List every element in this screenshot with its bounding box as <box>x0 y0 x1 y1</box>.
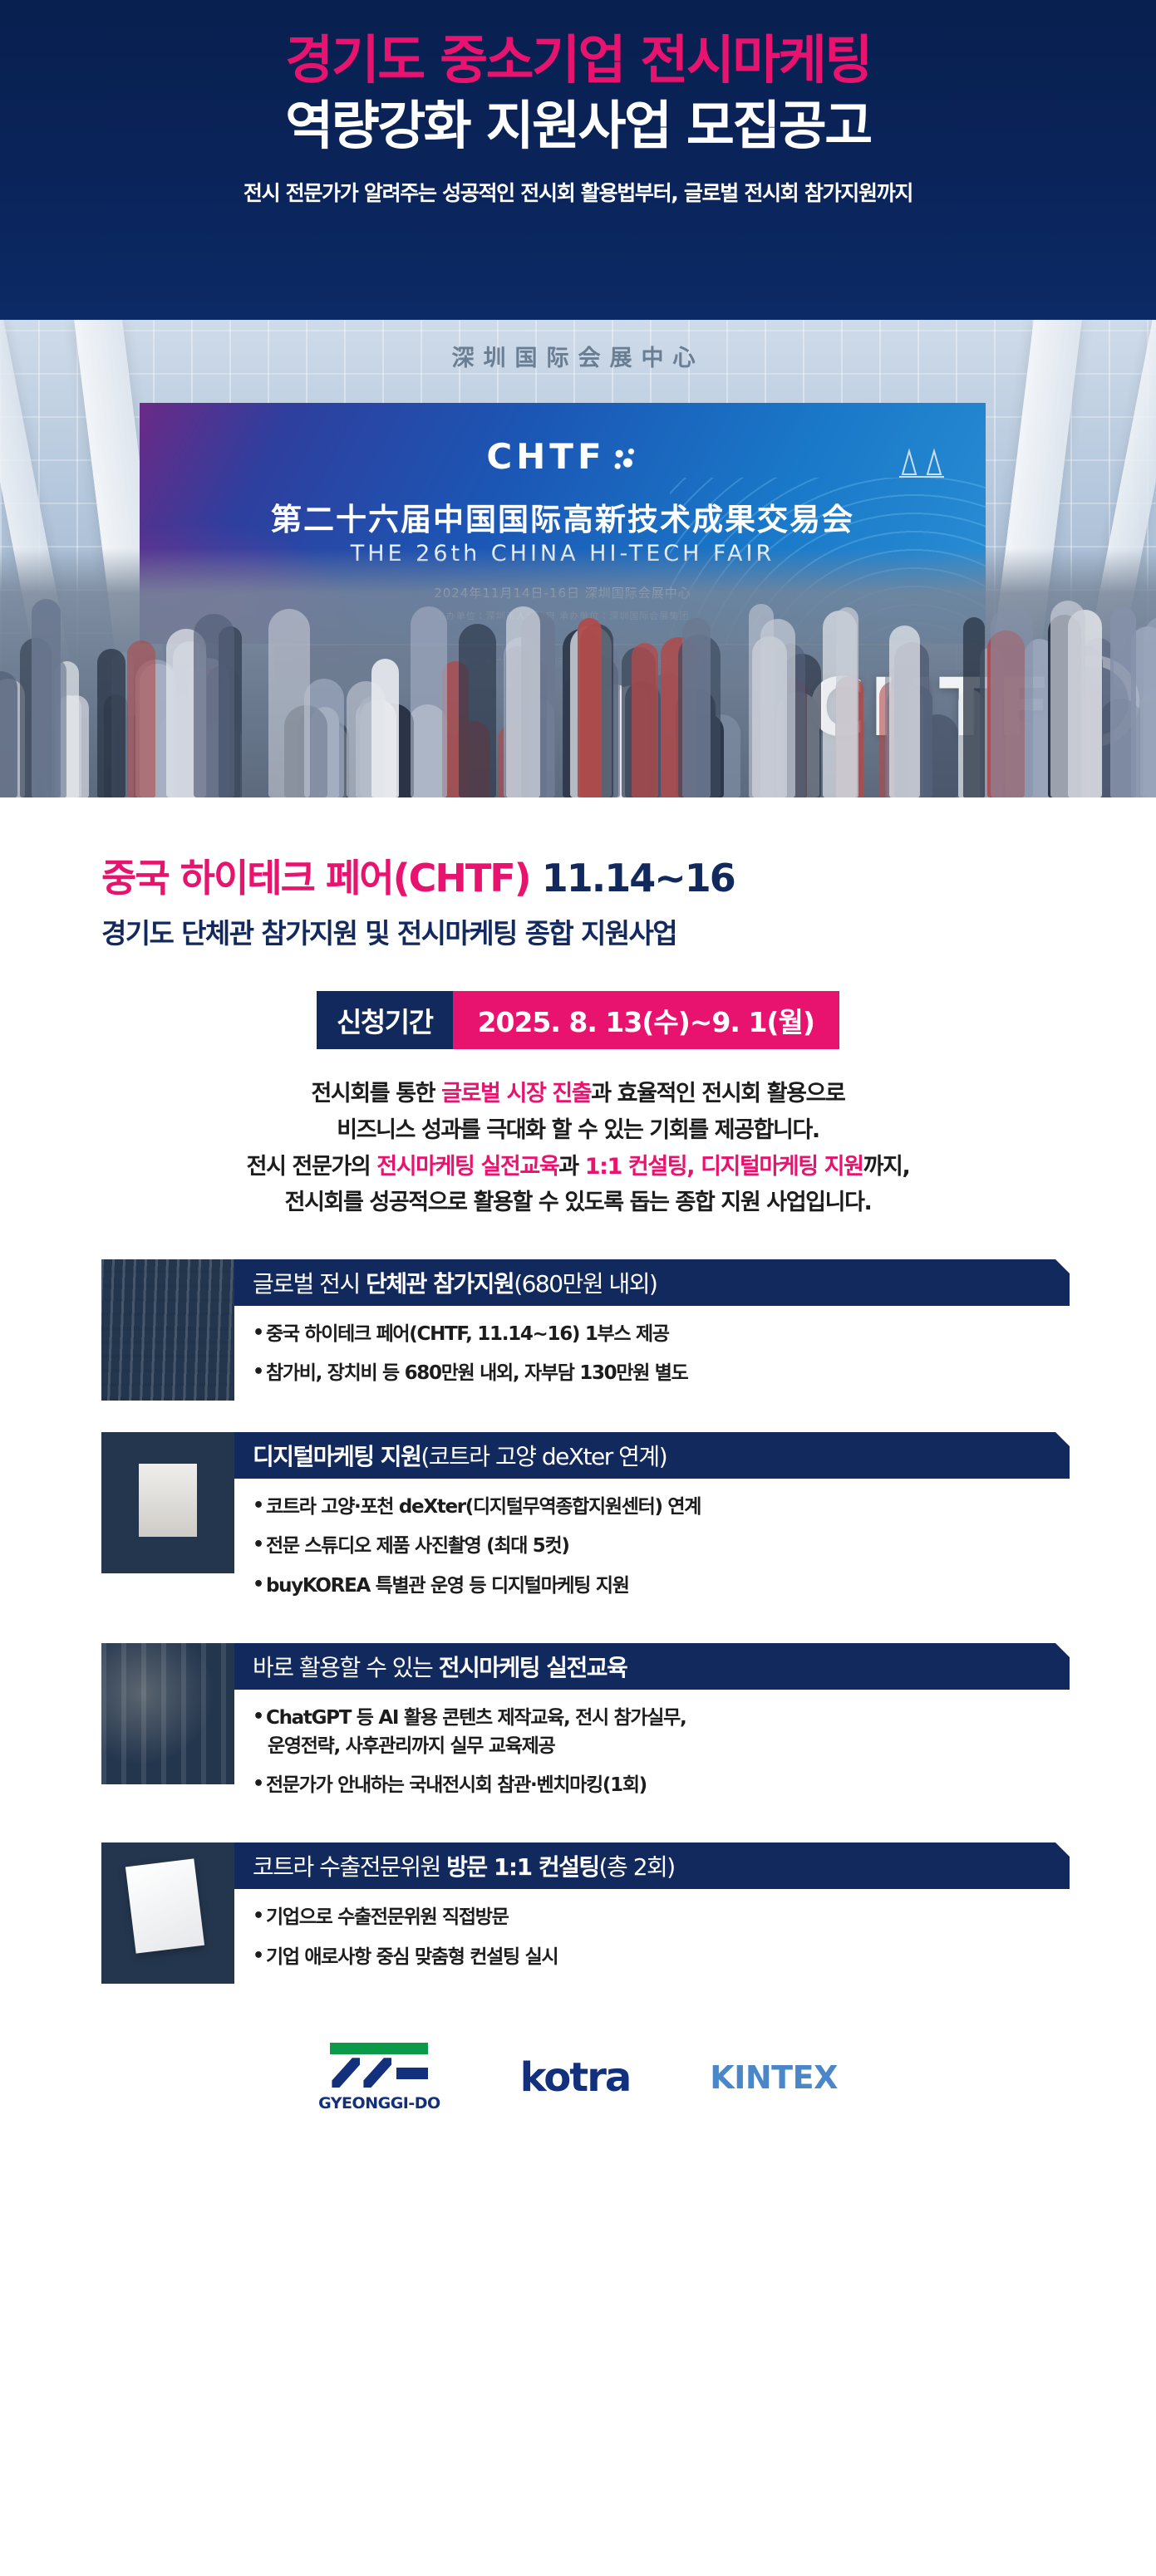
card-3-bullet-2: 전문가가 안내하는 국내전시회 참관·벤치마킹(1회) <box>253 1772 1070 1799</box>
card-3-bullet-1-continuation: 운영전략, 사후관리까지 실무 교육제공 <box>266 1733 1070 1760</box>
card-group-participation: 글로벌 전시 단체관 참가지원(680만원 내외) 중국 하이테크 페어(CHT… <box>0 1259 1156 1401</box>
card-1-thumbnail <box>101 1259 234 1401</box>
card-4-title: 코트라 수출전문위원 방문 1:1 컨설팅(총 2회) <box>253 1849 675 1882</box>
chtf-dots-icon <box>611 445 639 473</box>
card-3-bullets: ChatGPT 등 AI 활용 콘텐츠 제작교육, 전시 참가실무,운영전략, … <box>234 1690 1070 1811</box>
description-line-1: 전시회를 통한 글로벌 시장 진출과 효율적인 전시회 활용으로 <box>0 1076 1156 1112</box>
card-1-bullet-2: 참가비, 장치비 등 680만원 내외, 자부담 130만원 별도 <box>253 1360 1070 1387</box>
card-3-bullet-1-text: ChatGPT 등 AI 활용 콘텐츠 제작교육, 전시 참가실무, <box>266 1707 686 1729</box>
kintex-logo: KINTEX <box>710 2059 838 2096</box>
section-headline-line1: 중국 하이테크 페어(CHTF) 11.14~16 <box>101 856 1156 901</box>
desc-l1-a: 전시회를 통한 <box>311 1081 441 1106</box>
application-period-badge: 신청기간 2025. 8. 13(수)~9. 1(월) <box>0 991 1156 1049</box>
card-3-title: 바로 활용할 수 있는 전시마케팅 실전교육 <box>253 1650 627 1683</box>
banner-title-cn: 第二十六届中国国际高新技术成果交易会 <box>140 494 986 539</box>
card-1-body: 글로벌 전시 단체관 참가지원(680만원 내외) 중국 하이테크 페어(CHT… <box>234 1259 1070 1401</box>
gg-gap <box>396 2058 428 2066</box>
kotra-logo: kotra <box>520 2054 631 2101</box>
card-3-thumbnail <box>101 1643 234 1784</box>
card-2-bullet-2: 전문 스튜디오 제품 사진촬영 (최대 5컷) <box>253 1533 1070 1560</box>
desc-l3-b: 과 <box>558 1154 584 1180</box>
card-1-bullet-1: 중국 하이테크 페어(CHTF, 11.14~16) 1부스 제공 <box>253 1321 1070 1348</box>
poster-root: 경기도 중소기업 전시마케팅 역량강화 지원사업 모집공고 전시 전문가가 알려… <box>0 0 1156 2576</box>
shenzhen-emblem-icon <box>894 438 949 484</box>
card-practical-education: 바로 활용할 수 있는 전시마케팅 실전교육 ChatGPT 등 AI 활용 콘… <box>0 1643 1156 1811</box>
card-2-title-bold: 디지털마케팅 지원 <box>253 1443 421 1470</box>
card-4-title-bar: 코트라 수출전문위원 방문 1:1 컨설팅(총 2회) <box>234 1842 1070 1889</box>
card-consulting: 코트라 수출전문위원 방문 1:1 컨설팅(총 2회) 기업으로 수출전문위원 … <box>0 1842 1156 1984</box>
card-2-bullet-3: buyKOREA 특별관 운영 등 디지털마케팅 지원 <box>253 1573 1070 1600</box>
section-headline-pink: 중국 하이테크 페어(CHTF) <box>101 856 530 900</box>
gyeonggi-do-mark-icon <box>330 2043 428 2088</box>
card-4-bullet-1: 기업으로 수출전문위원 직접방문 <box>253 1904 1070 1931</box>
section-headline-navy: 11.14~16 <box>542 856 735 900</box>
description-line-4: 전시회를 성공적으로 활용할 수 있도록 돕는 종합 지원 사업입니다. <box>0 1185 1156 1221</box>
banner-logo-label: CHTF <box>486 436 605 477</box>
period-label: 신청기간 <box>317 991 452 1049</box>
card-1-title-bold: 단체관 참가지원 <box>366 1270 514 1298</box>
gg-slash-2 <box>363 2058 391 2088</box>
card-3-title-bold: 전시마케팅 실전교육 <box>439 1654 627 1681</box>
card-4-thumbnail <box>101 1842 234 1984</box>
venue-sign-text: 深圳国际会展中心 <box>0 340 1156 372</box>
desc-l3-a: 전시 전문가의 <box>247 1154 377 1180</box>
banner-logo-text: CHTF <box>140 436 986 477</box>
card-2-bullet-1: 코트라 고양·포천 deXter(디지털무역종합지원센터) 연계 <box>253 1494 1070 1521</box>
gyeonggi-do-logo: GYEONGGI-DO <box>318 2043 440 2112</box>
section-headline: 중국 하이테크 페어(CHTF) 11.14~16 경기도 단체관 참가지원 및… <box>0 856 1156 951</box>
card-4-title-tail: (총 2회) <box>599 1853 675 1881</box>
card-3-title-bar: 바로 활용할 수 있는 전시마케팅 실전교육 <box>234 1643 1070 1690</box>
desc-l1-highlight: 글로벌 시장 진출 <box>441 1081 591 1106</box>
card-digital-marketing: 디지털마케팅 지원(코트라 고양 deXter 연계) 코트라 고양·포천 de… <box>0 1432 1156 1612</box>
card-4-bullet-2: 기업 애로사항 중심 맞춤형 컨설팅 실시 <box>253 1944 1070 1971</box>
card-4-title-thin: 코트라 수출전문위원 <box>253 1853 446 1881</box>
card-4-bullets: 기업으로 수출전문위원 직접방문 기업 애로사항 중심 맞춤형 컨설팅 실시 <box>234 1889 1070 1983</box>
card-2-title-tail: (코트라 고양 deXter 연계) <box>421 1443 667 1470</box>
card-4-title-bold: 방문 1:1 컨설팅 <box>446 1853 598 1881</box>
card-1-title-thin: 글로벌 전시 <box>253 1270 366 1298</box>
card-1-title-bar: 글로벌 전시 단체관 참가지원(680만원 내외) <box>234 1259 1070 1306</box>
gg-navy-bar <box>396 2068 428 2079</box>
card-1-bullets: 중국 하이테크 페어(CHTF, 11.14~16) 1부스 제공 참가비, 장… <box>234 1306 1070 1400</box>
card-1-title: 글로벌 전시 단체관 참가지원(680만원 내외) <box>253 1266 657 1299</box>
header-title-line2: 역량강화 지원사업 모집공고 <box>0 95 1156 159</box>
support-cards: 글로벌 전시 단체관 참가지원(680만원 내외) 중국 하이테크 페어(CHT… <box>0 1259 1156 1984</box>
card-2-thumbnail <box>101 1432 234 1573</box>
description-block: 전시회를 통한 글로벌 시장 진출과 효율적인 전시회 활용으로 비즈니스 성과… <box>0 1076 1156 1221</box>
card-4-body: 코트라 수출전문위원 방문 1:1 컨설팅(총 2회) 기업으로 수출전문위원 … <box>234 1842 1070 1984</box>
section-subheadline: 경기도 단체관 참가지원 및 전시마케팅 종합 지원사업 <box>101 911 1156 951</box>
card-2-bullets: 코트라 고양·포천 deXter(디지털무역종합지원센터) 연계 전문 스튜디오… <box>234 1479 1070 1612</box>
description-line-2: 비즈니스 성과를 극대화 할 수 있는 기회를 제공합니다. <box>0 1112 1156 1149</box>
gg-green-bar <box>330 2043 428 2054</box>
desc-l1-b: 과 효율적인 전시회 활용으로 <box>591 1081 844 1106</box>
card-2-title-bar: 디지털마케팅 지원(코트라 고양 deXter 연계) <box>234 1432 1070 1479</box>
desc-l3-highlight-2: 1:1 컨설팅, 디지털마케팅 지원 <box>585 1154 863 1180</box>
card-3-title-thin: 바로 활용할 수 있는 <box>253 1654 439 1681</box>
gg-slash-1 <box>332 2058 360 2088</box>
desc-l3-highlight-1: 전시마케팅 실전교육 <box>376 1154 558 1180</box>
header-title-line1: 경기도 중소기업 전시마케팅 <box>0 30 1156 91</box>
period-value: 2025. 8. 13(수)~9. 1(월) <box>453 991 839 1049</box>
gyeonggi-do-logo-text: GYEONGGI-DO <box>318 2094 440 2112</box>
card-2-title: 디지털마케팅 지원(코트라 고양 deXter 연계) <box>253 1439 667 1472</box>
card-1-title-tail: (680만원 내외) <box>514 1270 657 1298</box>
description-line-3: 전시 전문가의 전시마케팅 실전교육과 1:1 컨설팅, 디지털마케팅 지원까지… <box>0 1149 1156 1185</box>
footer-logos: GYEONGGI-DO kotra KINTEX <box>0 2015 1156 2140</box>
desc-l3-c: 까지, <box>863 1154 910 1180</box>
header-subtitle: 전시 전문가가 알려주는 성공적인 전시회 활용법부터, 글로벌 전시회 참가지… <box>0 177 1156 207</box>
card-3-bullet-1: ChatGPT 등 AI 활용 콘텐츠 제작교육, 전시 참가실무,운영전략, … <box>253 1705 1070 1760</box>
card-3-body: 바로 활용할 수 있는 전시마케팅 실전교육 ChatGPT 등 AI 활용 콘… <box>234 1643 1070 1811</box>
poster-header: 경기도 중소기업 전시마케팅 역량강화 지원사업 모집공고 전시 전문가가 알려… <box>0 0 1156 320</box>
card-2-body: 디지털마케팅 지원(코트라 고양 deXter 연계) 코트라 고양·포천 de… <box>234 1432 1070 1612</box>
crowd-layer: CHTF <box>0 548 1156 797</box>
hero-photo: 深圳国际会展中心 CHTF 第二十六届中国国际高新技术成果交易会 THE 26t… <box>0 320 1156 797</box>
